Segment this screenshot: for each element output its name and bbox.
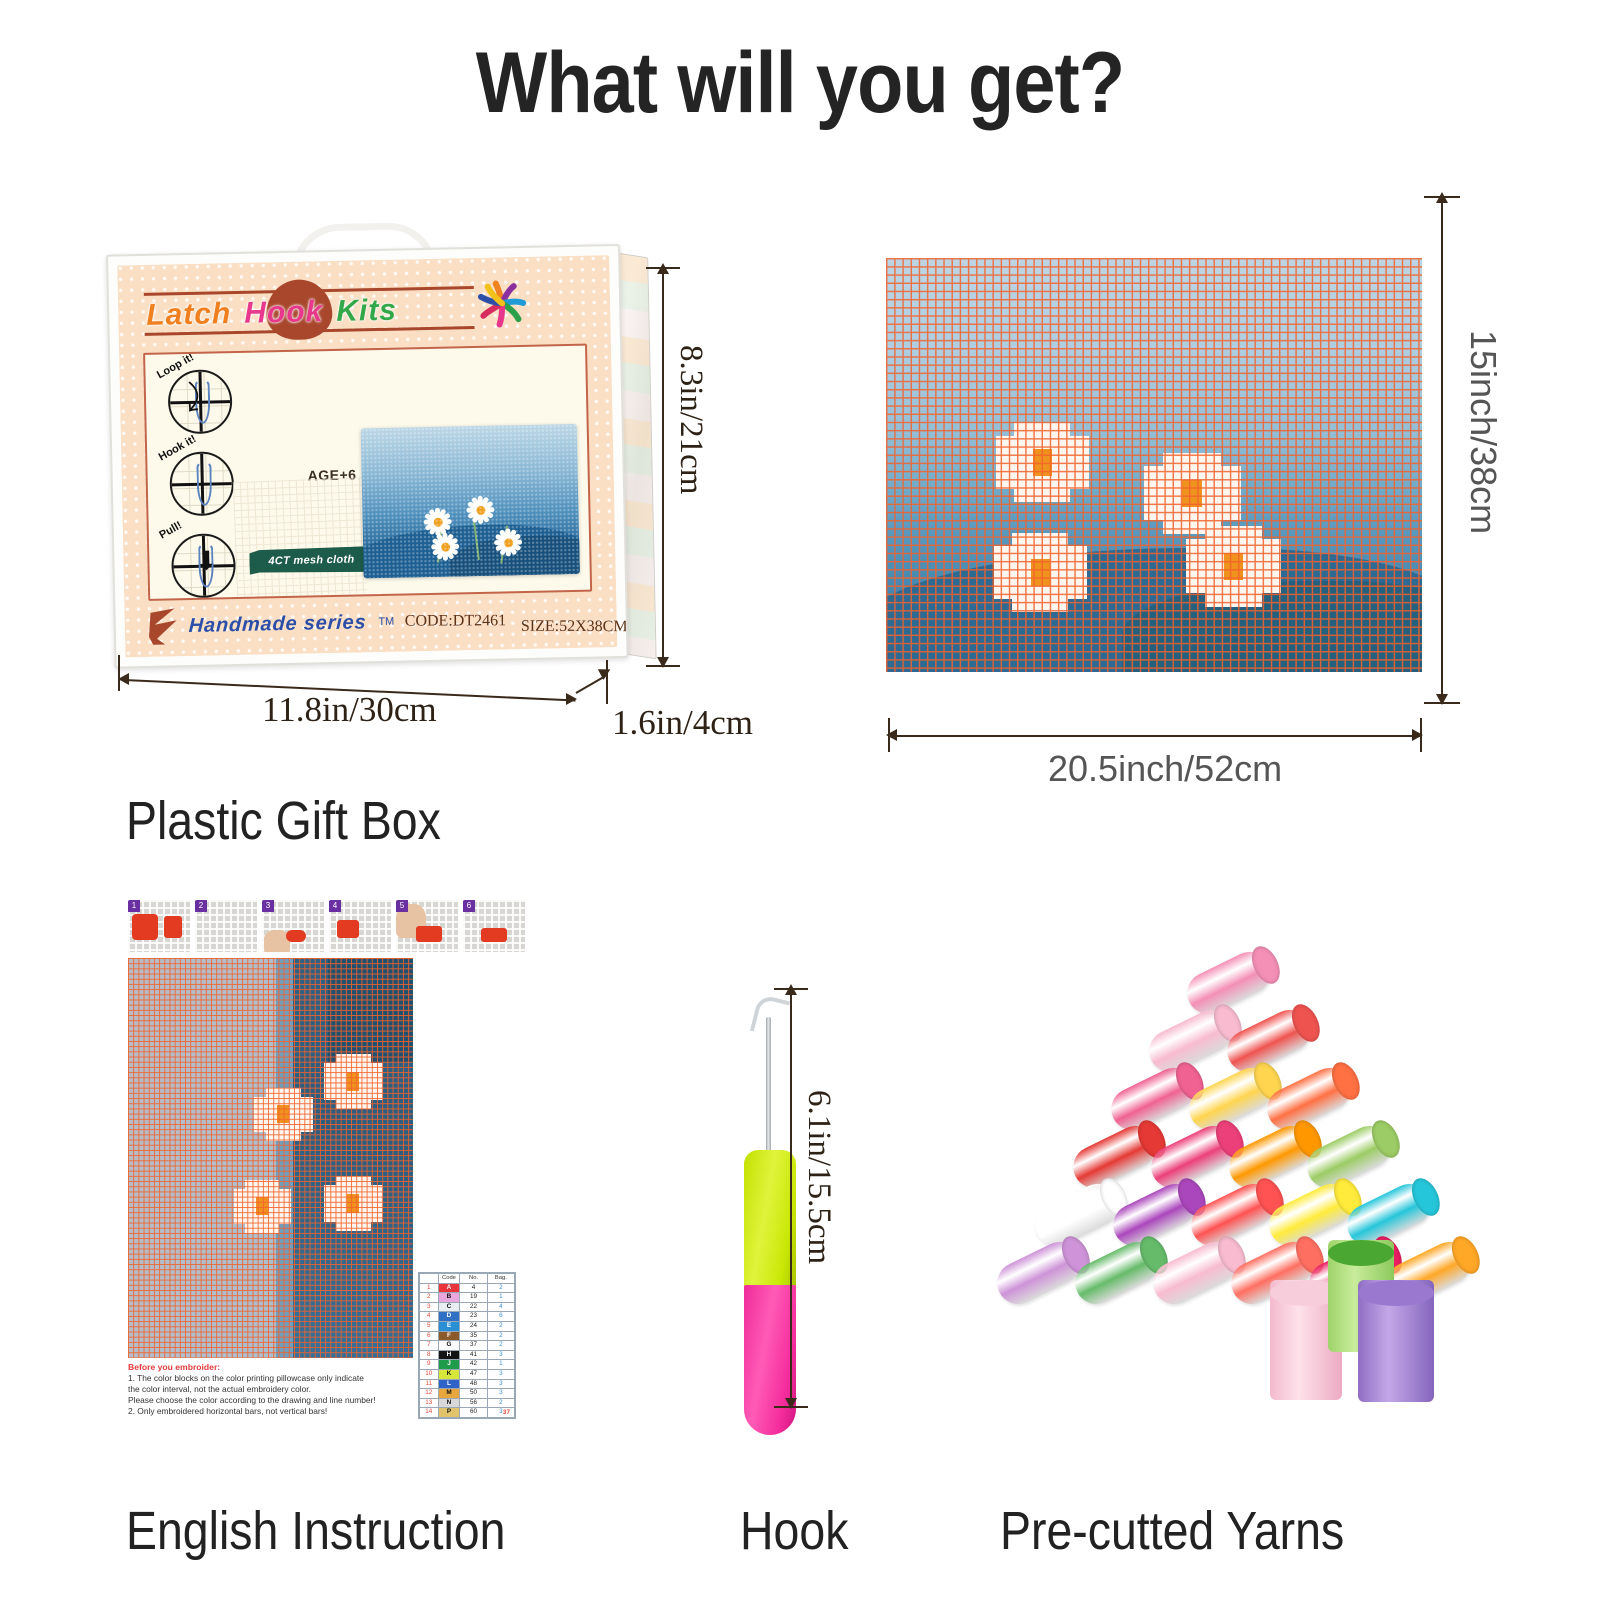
cell-color-code: H: [438, 1350, 460, 1360]
th-bag: Bag.: [487, 1274, 514, 1284]
dim-arrow-down: [785, 1398, 797, 1409]
table-row: 12M503: [420, 1389, 515, 1399]
dim-arrow-up: [1436, 192, 1448, 203]
brand-title: Latch Hook Kits: [146, 286, 467, 339]
box-front-face: Latch Hook Kits: [106, 244, 629, 669]
handmade-zigzag-icon: [144, 604, 185, 649]
box-cover-card: Latch Hook Kits: [117, 255, 617, 657]
instruction-step-photos: 1 2 3 4 5: [128, 900, 528, 952]
table-row: 3C224: [420, 1302, 515, 1312]
cell-index: 8: [420, 1350, 439, 1360]
photo-yarn: [416, 926, 442, 942]
table-row: 9J421: [420, 1360, 515, 1370]
cell-bag: 1: [487, 1293, 514, 1303]
step-photo: 3: [262, 900, 324, 952]
cell-number: 60: [460, 1408, 487, 1418]
caption-pre-cutted-yarns: Pre-cutted Yarns: [1000, 1500, 1344, 1562]
step-number: 6: [463, 900, 475, 912]
cell-color-code: N: [438, 1398, 460, 1408]
photo-yarn: [286, 930, 306, 942]
cell-number: 23: [460, 1312, 487, 1322]
rug-texture: [361, 424, 580, 578]
cell-index: 5: [420, 1321, 439, 1331]
cell-index: 2: [420, 1293, 439, 1303]
table-row: 8H413: [420, 1350, 515, 1360]
yarn-bundle-purple: [1358, 1280, 1434, 1402]
cell-number: 50: [460, 1389, 487, 1399]
bundle-top: [1358, 1280, 1434, 1306]
table-total: 37: [503, 1409, 510, 1416]
dim-arrow-up: [657, 263, 669, 274]
cell-bag: 2: [487, 1398, 514, 1408]
cell-color-code: G: [438, 1341, 460, 1351]
photo-yarn: [132, 914, 158, 940]
table-row: 7G372: [420, 1341, 515, 1351]
cell-color-code: P: [438, 1408, 460, 1418]
th-code: Code: [438, 1274, 460, 1284]
yarn-cut-end: [1326, 1058, 1365, 1104]
dim-arrow-left: [886, 729, 897, 741]
dim-label-canvas-width: 20.5inch/52cm: [1048, 748, 1282, 790]
th-no: No.: [460, 1274, 487, 1284]
step-arrow-down-icon: ⬇: [195, 547, 217, 573]
cell-number: 41: [460, 1350, 487, 1360]
caption-english-instruction: English Instruction: [126, 1500, 505, 1562]
canvas-panel: [886, 258, 1422, 672]
table-row: 4D236: [420, 1312, 515, 1322]
cell-color-code: C: [438, 1302, 460, 1312]
dim-line-canvas-height: [1441, 200, 1443, 700]
th-index: [420, 1274, 439, 1284]
step-number: 1: [128, 900, 140, 912]
cell-bag: 3: [487, 1408, 514, 1418]
hook-handle-upper: [744, 1150, 796, 1288]
dim-label-canvas-height: 15inch/38cm: [1462, 330, 1504, 534]
box-mesh-illustration: [233, 477, 367, 598]
instruction-notes: Before you embroider: 1. The color block…: [128, 1362, 420, 1417]
step-number: 5: [396, 900, 408, 912]
photo-yarn: [164, 916, 182, 938]
box-step-hook: [169, 451, 234, 516]
box-code-label: CODE:DT2461: [405, 612, 506, 630]
table-row: 11L483: [420, 1379, 515, 1389]
step-number: 3: [262, 900, 274, 912]
caption-hook: Hook: [740, 1500, 848, 1562]
yarns-panel: [960, 950, 1480, 1420]
step-photo: 6: [463, 900, 525, 952]
cell-color-code: D: [438, 1312, 460, 1322]
cell-index: 14: [420, 1408, 439, 1418]
page-title: What will you get?: [96, 34, 1504, 133]
step-photo: 2: [195, 900, 257, 952]
table-row: 14P603: [420, 1408, 515, 1418]
caption-plastic-gift-box: Plastic Gift Box: [126, 790, 441, 852]
cell-bag: 3: [487, 1350, 514, 1360]
dim-arrow-up: [785, 984, 797, 995]
cell-index: 11: [420, 1379, 439, 1389]
cell-number: 56: [460, 1398, 487, 1408]
cell-number: 24: [460, 1321, 487, 1331]
brand-word-kits: Kits: [336, 294, 397, 329]
pinwheel-logo-icon: [474, 275, 531, 332]
cell-number: 47: [460, 1369, 487, 1379]
yarn-cut-end: [1366, 1116, 1405, 1162]
cell-color-code: K: [438, 1369, 460, 1379]
dim-label-hook-length: 6.1in/15.5cm: [800, 1090, 837, 1264]
notes-line: Please choose the color according to the…: [128, 1395, 420, 1406]
box-product-photo: [361, 424, 580, 578]
box-inner-panel: ⤵ Loop it! Hook it!: [143, 344, 592, 601]
table-row: 10K473: [420, 1369, 515, 1379]
cell-index: 9: [420, 1360, 439, 1370]
step-photo: 4: [329, 900, 391, 952]
yarn-cut-end: [1406, 1174, 1445, 1220]
cell-number: 22: [460, 1302, 487, 1312]
dim-line-box-height: [662, 271, 664, 663]
cell-bag: 3: [487, 1379, 514, 1389]
cell-bag: 2: [487, 1341, 514, 1351]
infographic-page: What will you get? Latch Hook Kits: [0, 0, 1600, 1600]
dim-label-box-height: 8.3in/21cm: [672, 345, 709, 494]
cell-index: 10: [420, 1369, 439, 1379]
dim-label-box-depth: 1.6in/4cm: [612, 703, 753, 743]
table-row: 2B191: [420, 1293, 515, 1303]
cell-bag: 4: [487, 1302, 514, 1312]
cell-index: 12: [420, 1389, 439, 1399]
brand-word-latch: Latch: [146, 297, 232, 333]
dim-arrow-down: [657, 657, 669, 668]
box-step-loop: ⤵: [167, 369, 232, 434]
cell-color-code: B: [438, 1293, 460, 1303]
chart-grid-overlay: [128, 958, 413, 1358]
cell-color-code: J: [438, 1360, 460, 1370]
hook-handle-lower: [744, 1285, 796, 1435]
handmade-series-label: Handmade series: [188, 611, 367, 638]
instruction-pattern-chart: [128, 958, 413, 1358]
cell-color-code: F: [438, 1331, 460, 1341]
cell-color-code: L: [438, 1379, 460, 1389]
printed-mesh-canvas: [886, 258, 1422, 672]
box-bottom-bar: Handmade series TM CODE:DT2461 SIZE:52X3…: [148, 593, 601, 650]
step-photo: 1: [128, 900, 190, 952]
table-header-row: Code No. Bag.: [420, 1274, 515, 1284]
yarn-cut-end: [1286, 1000, 1325, 1046]
cell-bag: 6: [487, 1312, 514, 1322]
cell-bag: 3: [487, 1369, 514, 1379]
hook-metal-shaft: [766, 1017, 771, 1159]
table-row: 5E242: [420, 1321, 515, 1331]
cell-index: 1: [420, 1283, 439, 1293]
dim-label-box-width: 11.8in/30cm: [262, 690, 437, 730]
cell-bag: 2: [487, 1331, 514, 1341]
step-photo: 5: [396, 900, 458, 952]
cell-color-code: M: [438, 1389, 460, 1399]
instruction-panel: 1 2 3 4 5: [118, 900, 538, 1400]
dim-arrow-right: [566, 693, 577, 705]
cell-number: 42: [460, 1360, 487, 1370]
notes-line: the color interval, not the actual embro…: [128, 1384, 420, 1395]
step-yarn: [196, 462, 212, 506]
step-number: 2: [195, 900, 207, 912]
cell-bag: 2: [487, 1283, 514, 1293]
cell-index: 6: [420, 1331, 439, 1341]
cell-bag: 2: [487, 1321, 514, 1331]
cell-number: 37: [460, 1341, 487, 1351]
canvas-grid-overlay: [886, 258, 1422, 672]
gift-box-panel: Latch Hook Kits: [100, 195, 680, 695]
notes-header: Before you embroider:: [128, 1362, 420, 1372]
yarn-cut-end: [1446, 1232, 1485, 1278]
color-code-table: Code No. Bag. 1A422B1913C2244D2365E2426F…: [418, 1272, 516, 1419]
cell-index: 3: [420, 1302, 439, 1312]
table-row: 6F352: [420, 1331, 515, 1341]
bundle-top: [1328, 1240, 1394, 1266]
cell-color-code: A: [438, 1283, 460, 1293]
dim-line-hook-length: [790, 992, 792, 1404]
gift-box-image: Latch Hook Kits: [105, 217, 654, 668]
cell-number: 19: [460, 1293, 487, 1303]
box-size-label: SIZE:52X38CM: [521, 618, 628, 637]
notes-line: 1. The color blocks on the color printin…: [128, 1373, 420, 1384]
dim-line-canvas-width: [892, 735, 1420, 737]
cell-index: 4: [420, 1312, 439, 1322]
cell-number: 35: [460, 1331, 487, 1341]
cell-color-code: E: [438, 1321, 460, 1331]
cell-index: 7: [420, 1341, 439, 1351]
step-number: 4: [329, 900, 341, 912]
notes-line: 2. Only embroidered horizontal bars, not…: [128, 1406, 420, 1417]
yarn-bundle: [990, 1235, 1088, 1311]
box-step-pull: ⬇: [171, 533, 236, 598]
dim-arrow-down: [1436, 694, 1448, 705]
cell-number: 4: [460, 1283, 487, 1293]
trademark-label: TM: [378, 616, 394, 628]
photo-yarn: [337, 920, 359, 938]
cell-index: 13: [420, 1398, 439, 1408]
cell-number: 48: [460, 1379, 487, 1389]
table-row: 1A42: [420, 1283, 515, 1293]
cell-bag: 1: [487, 1360, 514, 1370]
box-mesh-banner: 4CT mesh cloth: [249, 546, 374, 575]
photo-yarn: [481, 928, 507, 942]
cell-bag: 3: [487, 1389, 514, 1399]
dim-arrow-left: [118, 673, 129, 685]
dim-arrow-right: [1412, 729, 1423, 741]
yarn-cut-end: [1246, 942, 1285, 988]
table-row: 13N562: [420, 1398, 515, 1408]
brand-word-hook: Hook: [244, 295, 324, 331]
